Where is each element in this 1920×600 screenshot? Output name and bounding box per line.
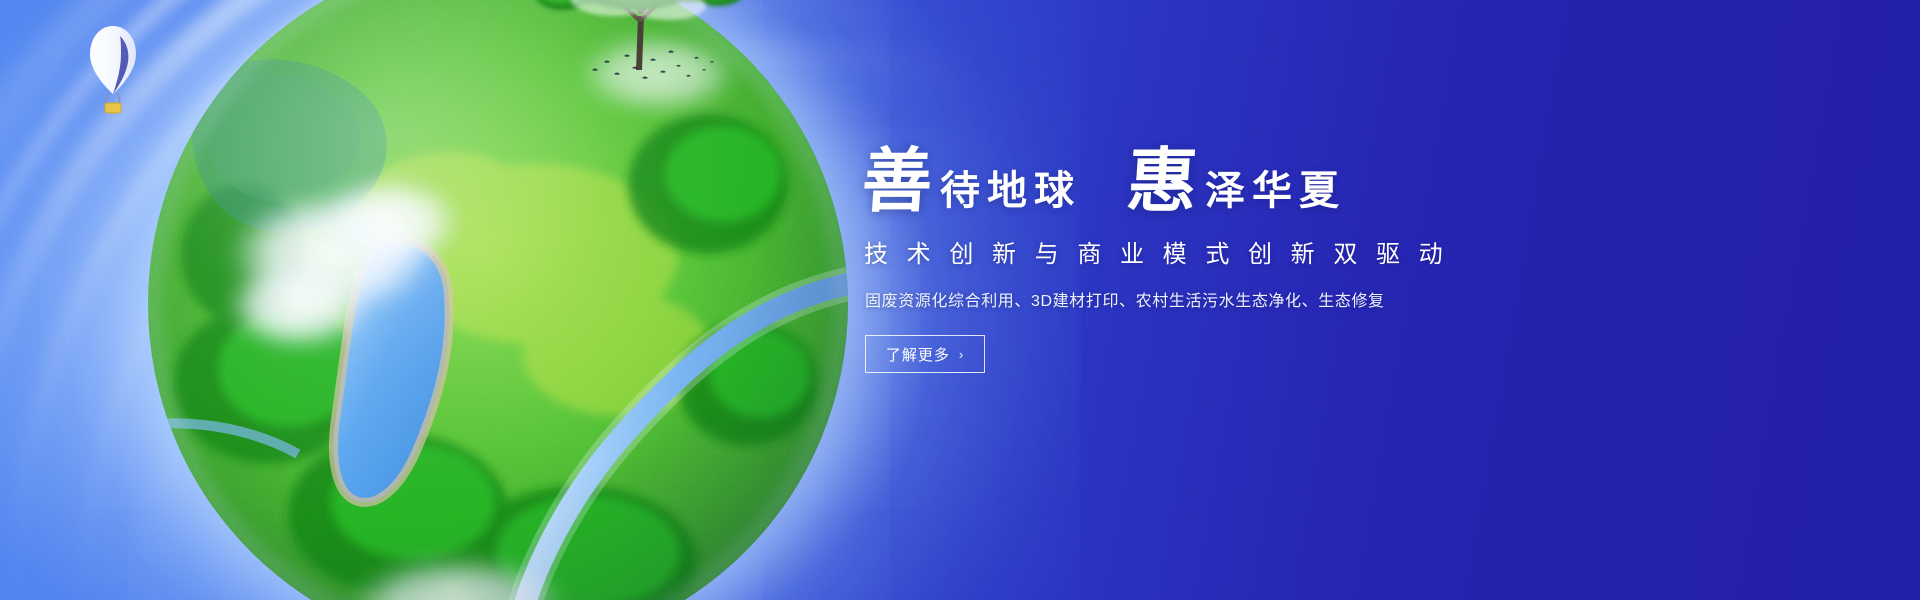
learn-more-label: 了解更多 xyxy=(886,344,950,365)
headline-part1-big: 善 xyxy=(860,148,935,218)
bird-flock-icon xyxy=(588,44,718,90)
hero-copy: 善 待地球 惠 泽华夏 技 术 创 新 与 商 业 模 式 创 新 双 驱 动 … xyxy=(862,132,1562,373)
headline-part2-small: 泽华夏 xyxy=(1197,171,1346,218)
learn-more-button[interactable]: 了解更多 › xyxy=(865,335,985,373)
page-title: 善 待地球 惠 泽华夏 xyxy=(862,132,1562,218)
headline-part1-small: 待地球 xyxy=(932,171,1081,218)
hero-description: 固废资源化综合利用、3D建材打印、农村生活污水生态净化、生态修复 xyxy=(865,287,1562,311)
hero-subtitle: 技 术 创 新 与 商 业 模 式 创 新 双 驱 动 xyxy=(864,234,1562,269)
headline-part2-big: 惠 xyxy=(1125,148,1200,218)
hero-banner: 善 待地球 惠 泽华夏 技 术 创 新 与 商 业 模 式 创 新 双 驱 动 … xyxy=(0,0,1920,600)
chevron-right-icon: › xyxy=(959,348,964,361)
hot-air-balloon-icon xyxy=(86,24,140,120)
globe-illustration xyxy=(148,0,848,600)
little-planet xyxy=(148,0,848,600)
